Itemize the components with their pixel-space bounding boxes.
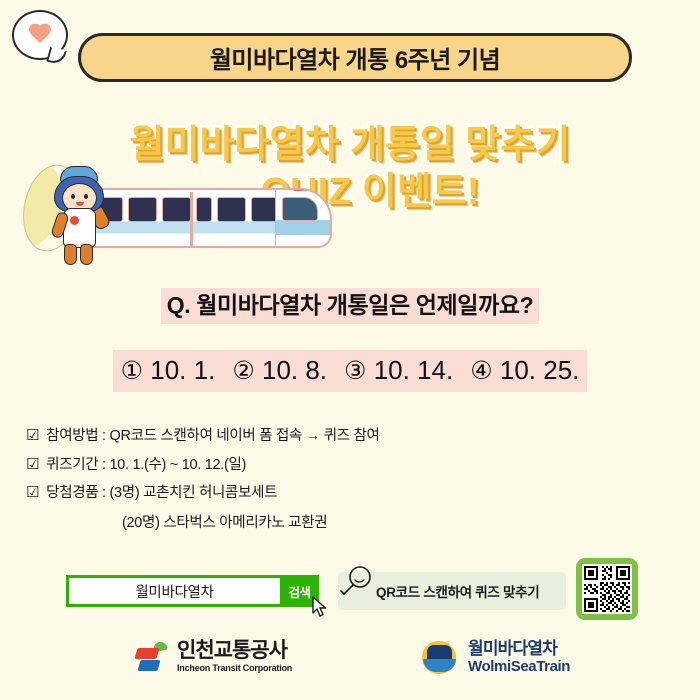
itc-name-en: Incheon Transit Corporation	[177, 663, 292, 673]
mascot-badge	[70, 216, 79, 225]
mascot-right-leg	[80, 244, 93, 265]
quiz-option-4[interactable]: ④ 10. 25.	[470, 355, 579, 385]
checkbox-icon: ☑	[26, 427, 39, 445]
train-window	[128, 197, 157, 222]
quiz-option-2[interactable]: ② 10. 8.	[232, 355, 327, 385]
quiz-options: ① 10. 1.② 10. 8.③ 10. 14.④ 10. 25.	[113, 350, 588, 392]
quiz-option-1-label: 10. 1.	[150, 355, 215, 385]
wst-logo-text: 월미바다열차 WolmiSeaTrain	[468, 640, 570, 675]
list-item-label: 참여방법 : QR코드 스캔하여 네이버 폼 접속 → 퀴즈 참여	[46, 427, 379, 447]
heart-speech-bubble	[12, 10, 74, 68]
naver-search-box[interactable]: 월미바다열차 검색	[66, 575, 319, 607]
train-door	[190, 192, 193, 248]
incheon-transit-logo: 인천교통공사 Incheon Transit Corporation	[136, 640, 292, 673]
itc-logo-text: 인천교통공사 Incheon Transit Corporation	[177, 640, 292, 673]
mascot-mouth	[76, 202, 84, 206]
checkbox-icon: ☑	[26, 456, 39, 474]
wolmi-mascot	[46, 166, 120, 266]
quiz-option-4-label: 10. 25.	[500, 355, 580, 385]
wst-name-en: WolmiSeaTrain	[468, 659, 570, 676]
train-window	[196, 197, 212, 222]
itc-logo-mark	[136, 641, 170, 673]
itc-mark-blue	[137, 660, 160, 671]
search-input[interactable]: 월미바다열차	[66, 575, 280, 607]
quiz-option-2-number: ②	[232, 357, 254, 385]
mascot-eye-right	[84, 194, 88, 199]
train-cab-window	[282, 197, 318, 221]
wst-name-ko: 월미바다열차	[468, 640, 570, 659]
quiz-option-3-label: 10. 14.	[374, 355, 454, 385]
quiz-option-3[interactable]: ③ 10. 14.	[344, 355, 453, 385]
qr-code-image	[582, 564, 632, 614]
wolmi-sea-train-logo: 월미바다열차 WolmiSeaTrain	[420, 640, 570, 676]
quiz-option-2-label: 10. 8.	[262, 355, 327, 385]
train-windows	[94, 197, 280, 222]
itc-name-ko: 인천교통공사	[177, 640, 292, 661]
sea-train-graphic	[84, 188, 332, 248]
mascot-eye-left	[71, 194, 75, 199]
itc-mark-red	[134, 648, 159, 659]
mouse-cursor-icon	[312, 596, 328, 618]
qr-code[interactable]	[576, 558, 638, 620]
quiz-question: Q. 월미바다열차 개통일은 언제일까요?	[161, 288, 540, 324]
quiz-option-3-number: ③	[344, 357, 366, 385]
list-item-label: 퀴즈기간 : 10. 1.(수) ~ 10. 12.(일)	[46, 456, 246, 476]
train-window	[162, 197, 191, 222]
list-item-label: 당첨경품 : (3명) 교촌치킨 허니콤보세트	[46, 484, 277, 504]
quiz-option-1[interactable]: ① 10. 1.	[121, 355, 216, 385]
list-item: ☑ 퀴즈기간 : 10. 1.(수) ~ 10. 12.(일)	[26, 456, 586, 476]
quiz-option-1-number: ①	[121, 357, 143, 385]
train-roof-light	[292, 188, 314, 191]
hero-illustration	[18, 160, 338, 270]
poster-root: 월미바다열차 개통 6주년 기념 월미바다열차 개통일 맞추기 QUIZ 이벤트…	[0, 0, 700, 700]
qr-instruction-text: QR코드 스캔하여 퀴즈 맞추기	[376, 581, 539, 601]
quiz-option-4-number: ④	[470, 357, 492, 385]
mascot-body	[63, 208, 96, 248]
quiz-options-row: ① 10. 1.② 10. 8.③ 10. 14.④ 10. 25.	[0, 350, 700, 392]
train-window	[217, 197, 246, 222]
wst-logo-mark	[420, 640, 460, 676]
list-item: ☑ 참여방법 : QR코드 스캔하여 네이버 폼 접속 → 퀴즈 참여	[26, 427, 586, 447]
mascot-left-leg	[64, 244, 77, 265]
train-nose	[275, 190, 330, 246]
bubble-tail	[46, 46, 67, 66]
list-item: ☑ 당첨경품 : (3명) 교촌치킨 허니콤보세트	[26, 484, 586, 504]
anniversary-banner: 월미바다열차 개통 6주년 기념	[78, 33, 632, 82]
heart-icon	[28, 24, 52, 46]
event-details-list: ☑ 참여방법 : QR코드 스캔하여 네이버 폼 접속 → 퀴즈 참여 ☑ 퀴즈…	[26, 427, 586, 532]
magnifier-icon	[338, 562, 380, 604]
anniversary-banner-text: 월미바다열차 개통 6주년 기념	[210, 40, 500, 75]
checkbox-icon: ☑	[26, 484, 39, 502]
quiz-question-row: Q. 월미바다열차 개통일은 언제일까요?	[0, 288, 700, 324]
list-item-subline: (20명) 스타벅스 아메리카노 교환권	[122, 511, 586, 532]
